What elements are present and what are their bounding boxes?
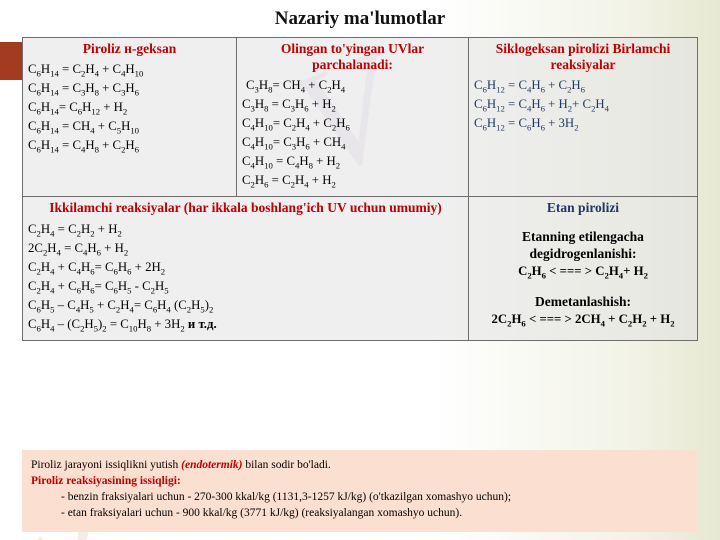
equation-c3-3: C6H12 = C6H6 + 3H2 — [474, 115, 692, 134]
equation-c2-4: C4H10= C3H6 + CH4 — [242, 134, 463, 153]
note-text-endothermic: (endotermik) — [181, 459, 242, 471]
equation-s2-3: C2H4 + C4H6= C6H6 + 2H2 — [28, 259, 463, 278]
equation-s2-2: 2C2H4 = C4H6 + H2 — [28, 240, 463, 259]
page-title: Nazariy ma'lumotlar — [0, 8, 720, 30]
equation-c1-5: C6H14 = C4H8 + C2H6 — [28, 137, 231, 156]
equation-c2-3: C4H10= C2H4 + C2H6 — [242, 115, 463, 134]
equation-c1-3: C6H14= C6H12 + H2 — [28, 99, 231, 118]
equation-c2-2: C3H8 = C3H6 + H2 — [242, 96, 463, 115]
section-header-secondary-reactions: Ikkilamchi reaksiyalar (har ikkala boshl… — [28, 200, 463, 217]
column-header-pyrolysis-hexane: Piroliz н-geksan — [28, 41, 231, 61]
equation-c2-1: C3H8= CH4 + C2H4 — [242, 77, 463, 96]
note-line-3: - benzin fraksiyalari uchun - 270-300 kk… — [31, 489, 688, 505]
note-line-2: Piroliz reaksiyasining issiqligi: — [31, 473, 688, 489]
slide: V S Nazariy ma'lumotlar Piroliz н-geksan… — [0, 0, 720, 540]
note-line-4: - etan fraksiyalari uchun - 900 kkal/kg … — [31, 505, 688, 521]
equation-s2-6: C6H4 – (C2H5)2 = C10H8 + 3H2 и т.д. — [28, 316, 463, 335]
equation-s2-4: C2H4 + C6H6= C6H5 - C2H5 — [28, 278, 463, 297]
subheader-dehydrogenation: Etanning etilengacha degidrogenlanishi: — [474, 225, 692, 263]
cell-pyrolysis-hexane: Piroliz н-geksan C6H14 = C2H4 + C4H10 C6… — [23, 38, 237, 197]
note-text-c: bilan sodir bo'ladi. — [242, 459, 330, 471]
table-row-secondary-reactions: Ikkilamchi reaksiyalar (har ikkala boshl… — [23, 197, 698, 341]
equation-c3-1: C6H12 = C4H6 + C2H6 — [474, 77, 692, 96]
note-box: Piroliz jarayoni issiqlikni yutish (endo… — [22, 450, 697, 532]
equation-c2-6: C2H6 = C2H4 + H2 — [242, 172, 463, 191]
equation-s2-1: C2H4 = C2H2 + H2 — [28, 217, 463, 240]
note-line-1: Piroliz jarayoni issiqlikni yutish (endo… — [31, 457, 688, 473]
equation-c3-2: C6H12 = C4H6 + H2+ C2H4 — [474, 96, 692, 115]
note-text-a: Piroliz jarayoni issiqlikni yutish — [31, 459, 181, 471]
subheader-demethanation: Demetanlashish: — [474, 294, 692, 311]
equation-ethane-2: 2C2H6 < === > 2CH4 + C2H2 + H2 — [474, 311, 692, 330]
equation-c1-4: C6H14 = CH4 + C5H10 — [28, 118, 231, 137]
cell-ethane-pyrolysis: Etan pirolizi Etanning etilengacha degid… — [469, 197, 698, 341]
table-row-headers-and-equations: Piroliz н-geksan C6H14 = C2H4 + C4H10 C6… — [23, 38, 698, 197]
reactions-table: Piroliz н-geksan C6H14 = C2H4 + C4H10 C6… — [22, 37, 698, 341]
cell-secondary-reactions: Ikkilamchi reaksiyalar (har ikkala boshl… — [23, 197, 469, 341]
equation-c1-1: C6H14 = C2H4 + C4H10 — [28, 61, 231, 80]
cell-cyclohexane-pyrolysis: Siklogeksan pirolizi Birlamchi reaksiyal… — [469, 38, 698, 197]
column-header-saturated-hc: Olingan to'yingan UVlar parchalanadi: — [242, 41, 463, 77]
equation-c2-5: C4H10 = C4H8 + H2 — [242, 153, 463, 172]
column-header-cyclohexane: Siklogeksan pirolizi Birlamchi reaksiyal… — [474, 41, 692, 77]
section-header-ethane-pyrolysis: Etan pirolizi — [474, 200, 692, 217]
decorative-left-bar — [0, 42, 22, 80]
equation-ethane-1: C2H6 < === > C2H4+ H2 — [474, 263, 692, 282]
equation-c1-2: C6H14 = C3H8 + C3H6 — [28, 80, 231, 99]
cell-saturated-hc-decomposition: Olingan to'yingan UVlar parchalanadi: C3… — [237, 38, 469, 197]
equation-s2-5: C6H5 – C4H5 + C2H4= C6H4 (C2H5)2 — [28, 297, 463, 316]
